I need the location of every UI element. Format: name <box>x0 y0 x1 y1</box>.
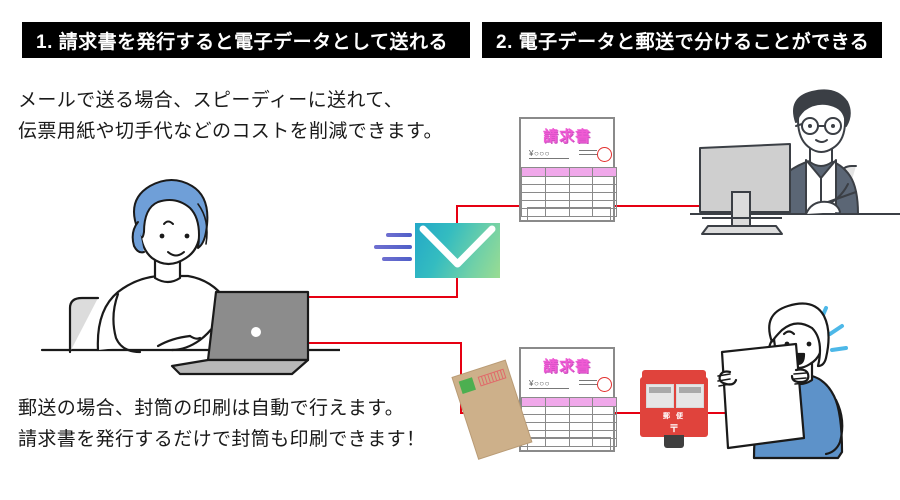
description-text-postal: 郵送の場合、封筒の印刷は自動で行えます。 請求書を発行するだけで封筒も印刷できま… <box>18 393 468 455</box>
invoice-amount: ¥○○○ <box>529 149 569 159</box>
description-text-email: メールで送る場合、スピーディーに送れて、 伝票用紙や切手代などのコストを削減でき… <box>18 85 468 147</box>
invoice-seal-icon <box>597 147 612 162</box>
woman-reading-invoice <box>712 300 900 495</box>
japan-post-mailbox: 郵 便 〒 <box>640 370 708 448</box>
connector-mail-vertical-upper <box>456 205 458 225</box>
woman-at-laptop <box>40 160 340 385</box>
section-header-1-label: 1. 請求書を発行すると電子データとして送れる <box>36 27 448 54</box>
mail-speed-lines-icon <box>374 233 412 269</box>
invoice-title: 請求書 <box>521 125 613 146</box>
postal-mark-icon: 〒 <box>640 420 708 435</box>
man-at-desktop <box>690 88 900 243</box>
diagram-canvas: 1. 請求書を発行すると電子データとして送れる 2. 電子データと郵送で分けるこ… <box>0 0 900 500</box>
section-header-2: 2. 電子データと郵送で分けることができる <box>482 22 882 58</box>
email-envelope-icon <box>415 223 500 278</box>
section-header-1: 1. 請求書を発行すると電子データとして送れる <box>22 22 470 58</box>
kraft-envelope <box>446 355 536 465</box>
invoice-document-email: 請求書 ¥○○○ <box>519 117 615 222</box>
invoice-seal-icon <box>597 377 612 392</box>
section-header-2-label: 2. 電子データと郵送で分けることができる <box>496 27 869 54</box>
